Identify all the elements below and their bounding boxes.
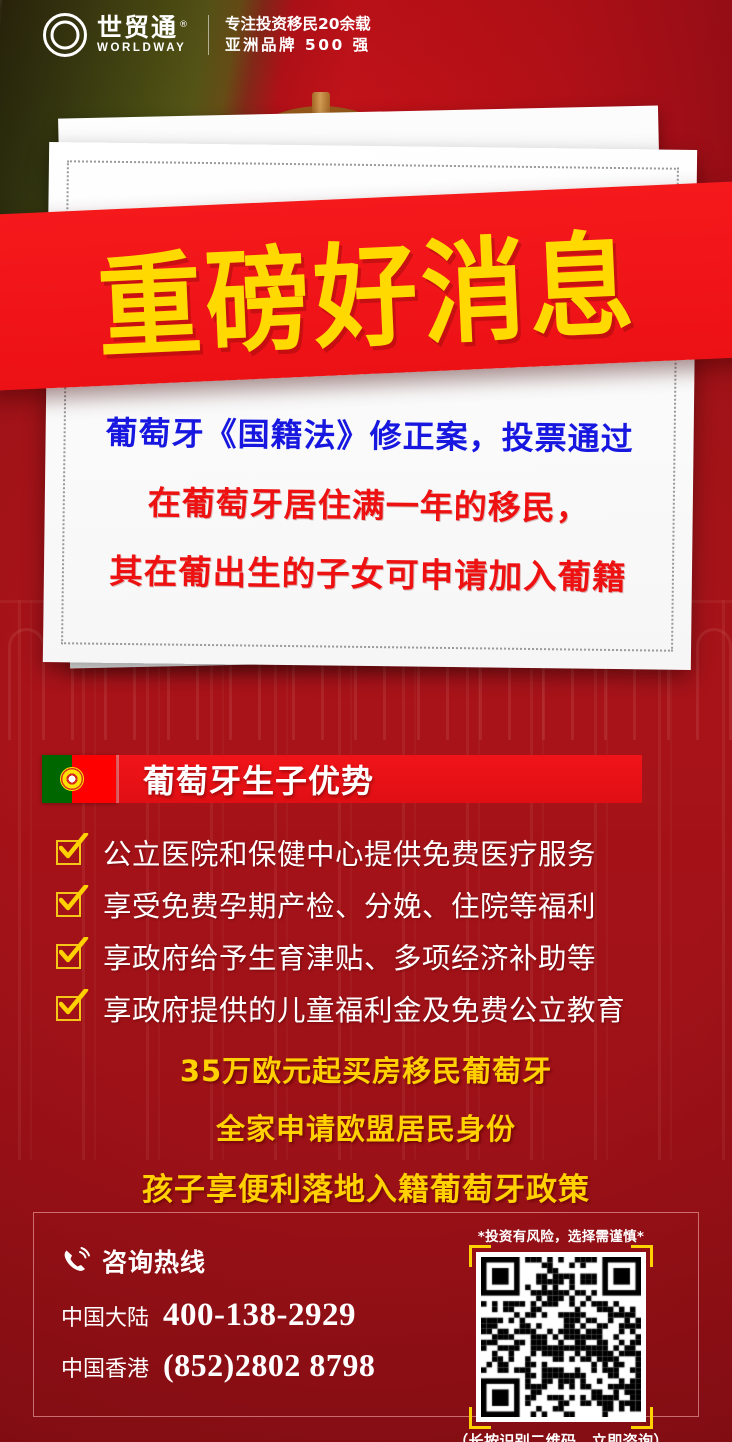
slogan-line-1: 35万欧元起买房移民葡萄牙 — [0, 1048, 732, 1090]
promotional-poster: 世贸通® WORLDWAY 专注投资移民20余载 亚洲品牌 500 强 重磅好消… — [0, 0, 732, 1442]
advantages-title: 葡萄牙生子优势 — [143, 756, 374, 802]
checkbox-check-icon — [56, 996, 81, 1021]
header-slogan-line-2: 亚洲品牌 500 强 — [225, 35, 371, 56]
slogan-line-2: 全家申请欧盟居民身份 — [0, 1106, 732, 1148]
announcement-line-blue: 葡萄牙《国籍法》修正案，投票通过 — [79, 407, 660, 460]
header-bar: 世贸通® WORLDWAY 专注投资移民20余载 亚洲品牌 500 强 — [0, 0, 732, 70]
qr-call-to-action: （长按识别二维码，立即咨询） — [440, 1430, 682, 1442]
announcement-block: 葡萄牙《国籍法》修正案，投票通过 在葡萄牙居住满一年的移民， 其在葡出生的子女可… — [43, 142, 697, 670]
list-item-label: 享政府提供的儿童福利金及免费公立教育 — [103, 988, 625, 1029]
qr-block: *投资有风险，选择需谨慎* （长按识别二维码，立即咨询） — [440, 1225, 682, 1442]
advantages-list: 公立医院和保健中心提供免费医疗服务 享受免费孕期产检、分娩、住院等福利 享政府给… — [56, 828, 696, 1036]
phone-icon — [61, 1246, 91, 1276]
logo-english-name: WORLDWAY — [97, 43, 190, 55]
list-item: 享政府给予生育津贴、多项经济补助等 — [56, 932, 696, 980]
slogan-block: 35万欧元起买房移民葡萄牙 全家申请欧盟居民身份 孩子享便利落地入籍葡萄牙政策 — [0, 1048, 732, 1209]
advantages-section-header: 葡萄牙生子优势 — [42, 755, 642, 803]
contact-region-label: 中国香港 — [61, 1351, 149, 1383]
slogan-line-3: 孩子享便利落地入籍葡萄牙政策 — [0, 1164, 732, 1209]
list-item: 享受免费孕期产检、分娩、住院等福利 — [56, 880, 696, 928]
qr-risk-warning: *投资有风险，选择需谨慎* — [440, 1225, 682, 1245]
contact-row-hongkong: 中国香港 (852)2802 8798 — [61, 1347, 375, 1384]
qr-code[interactable] — [476, 1252, 646, 1422]
announcement-line-red-1: 在葡萄牙居住满一年的移民， — [79, 475, 660, 530]
hotline-label: 咨询热线 — [102, 1243, 206, 1279]
qr-code-image[interactable] — [481, 1257, 641, 1417]
list-item: 公立医院和保健中心提供免费医疗服务 — [56, 828, 696, 876]
contact-row-mainland: 中国大陆 400-138-2929 — [61, 1297, 375, 1334]
checkbox-check-icon — [56, 944, 81, 969]
logo-chinese-name: 世贸通® — [97, 15, 190, 40]
header-slogan-line-1: 专注投资移民20余载 — [225, 14, 371, 35]
header-divider — [208, 15, 209, 55]
contact-phone-number[interactable]: 400-138-2929 — [163, 1297, 356, 1334]
checkbox-check-icon — [56, 840, 81, 865]
list-item-label: 享政府给予生育津贴、多项经济补助等 — [103, 936, 596, 977]
list-item-label: 享受免费孕期产检、分娩、住院等福利 — [103, 884, 596, 925]
contact-region-label: 中国大陆 — [61, 1300, 149, 1332]
list-item-label: 公立医院和保健中心提供免费医疗服务 — [103, 832, 596, 873]
contact-info: 咨询热线 中国大陆 400-138-2929 中国香港 (852)2802 87… — [61, 1243, 375, 1397]
portugal-flag-icon — [42, 755, 116, 803]
worldway-logo-icon — [42, 12, 88, 58]
announcement-line-red-2: 其在葡出生的子女可申请加入葡籍 — [78, 543, 659, 599]
logo-wordmark: 世贸通® WORLDWAY — [97, 15, 190, 55]
footer-contact-box: 咨询热线 中国大陆 400-138-2929 中国香港 (852)2802 87… — [33, 1212, 699, 1417]
header-slogan: 专注投资移民20余载 亚洲品牌 500 强 — [225, 14, 371, 55]
contact-phone-number[interactable]: (852)2802 8798 — [163, 1347, 375, 1384]
registered-mark: ® — [179, 20, 190, 30]
advantages-title-bar: 葡萄牙生子优势 — [116, 755, 642, 803]
checkbox-check-icon — [56, 892, 81, 917]
hotline-row: 咨询热线 — [61, 1243, 375, 1279]
brand-logo: 世贸通® WORLDWAY — [0, 12, 190, 58]
list-item: 享政府提供的儿童福利金及免费公立教育 — [56, 984, 696, 1032]
